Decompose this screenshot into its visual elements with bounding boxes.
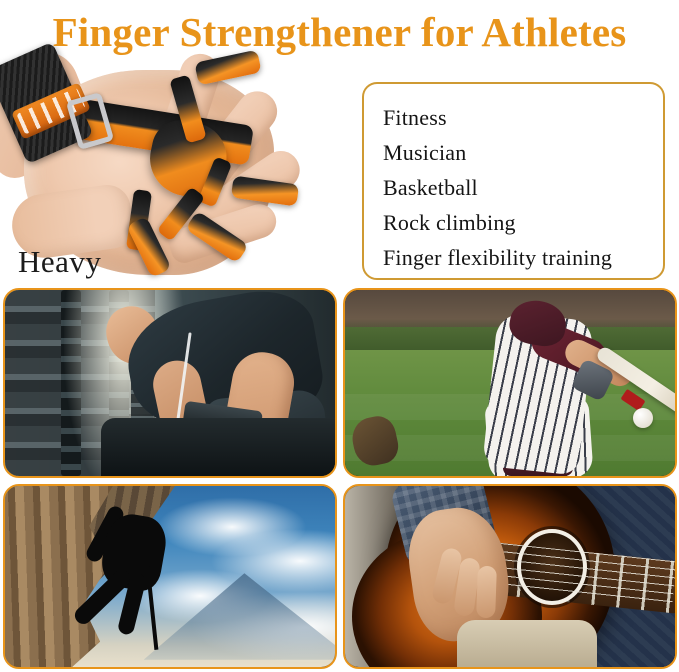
photo-inner (345, 290, 675, 476)
khaki-trousers (457, 620, 597, 667)
weight-bench (101, 418, 335, 476)
baseball (633, 408, 653, 428)
baseball-photo (343, 288, 677, 478)
feature-item-rock-climbing: Rock climbing (383, 205, 663, 240)
guitar-photo (343, 484, 677, 669)
photo-inner (5, 290, 335, 476)
page-title: Finger Strengthener for Athletes (0, 8, 679, 56)
gym-workout-photo (3, 288, 337, 478)
feature-item-finger-flexibility-training: Finger flexibility training (383, 240, 663, 275)
weight-label: Heavy (18, 244, 101, 280)
hand-finger (476, 565, 497, 618)
rock-climbing-photo (3, 484, 337, 669)
feature-box: Fitness Musician Basketball Rock climbin… (362, 82, 665, 280)
feature-item-fitness: Fitness (383, 100, 663, 135)
photo-inner (5, 486, 335, 667)
feature-list: Fitness Musician Basketball Rock climbin… (364, 84, 663, 275)
photo-grid (3, 288, 676, 669)
feature-item-basketball: Basketball (383, 170, 663, 205)
photo-inner (345, 486, 675, 667)
feature-item-musician: Musician (383, 135, 663, 170)
